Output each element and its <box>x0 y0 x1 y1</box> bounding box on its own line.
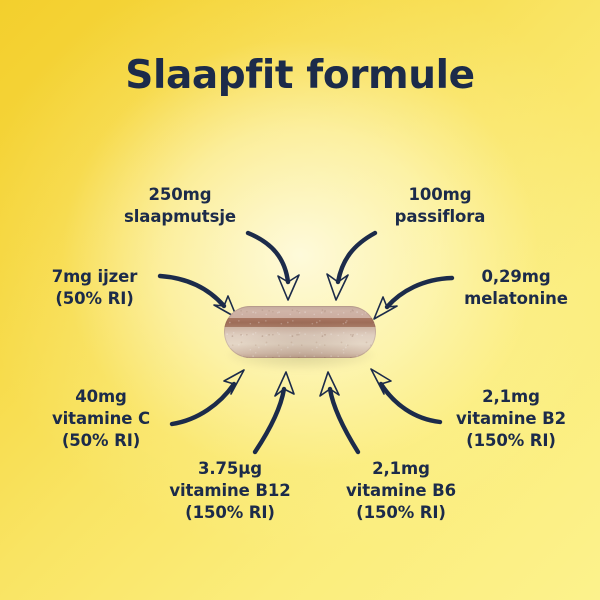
ingredient-label-vitamine-b2: 2,1mg vitamine B2 (150% RI) <box>432 386 590 451</box>
ingredient-label-vitamine-b6: 2,1mg vitamine B6 (150% RI) <box>327 458 475 523</box>
ingredient-label-passiflora: 100mg passiflora <box>365 184 515 228</box>
ingredient-label-melatonine: 0,29mg melatonine <box>440 266 592 310</box>
arrow-vitamine-b6-icon <box>320 372 358 452</box>
tablet-edge <box>224 306 376 358</box>
slaapfit-formule-infographic: Slaapfit formule <box>0 0 600 600</box>
arrow-vitamine-b12-icon <box>255 372 294 452</box>
arrow-passiflora-icon <box>327 233 375 300</box>
arrow-vitamine-b2-icon <box>371 369 440 422</box>
ingredient-label-vitamine-c: 40mg vitamine C (50% RI) <box>26 386 176 451</box>
ingredient-label-slaapmutsje: 250mg slaapmutsje <box>100 184 260 228</box>
ingredient-label-ijzer: 7mg ijzer (50% RI) <box>22 266 167 310</box>
arrow-vitamine-c-icon <box>172 370 244 424</box>
product-tablet <box>224 306 376 364</box>
ingredient-label-vitamine-b12: 3.75µg vitamine B12 (150% RI) <box>152 458 308 523</box>
tablet-body <box>224 306 376 358</box>
arrow-slaapmutsje-icon <box>248 233 299 300</box>
